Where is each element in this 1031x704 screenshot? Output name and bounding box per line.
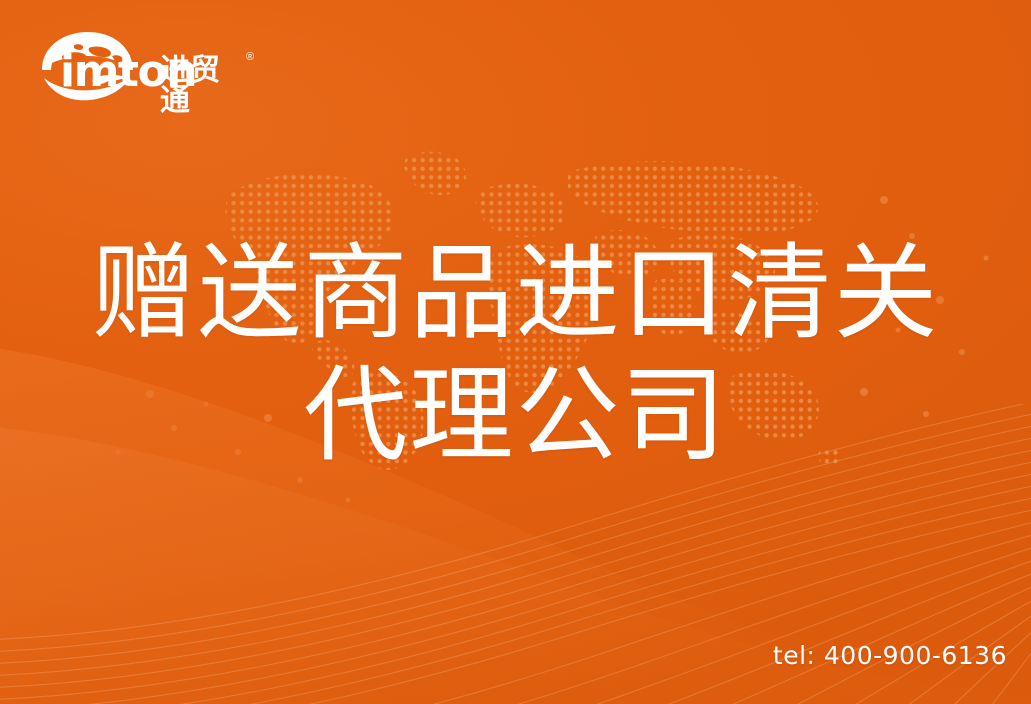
logo-chinese-name: 进贸通 (160, 56, 234, 116)
promo-banner: imton 进贸通 ® 赠送商品进口清关 代理公司 tel: 400-900-6… (0, 0, 1031, 704)
brand-logo[interactable]: imton 进贸通 ® (34, 30, 234, 102)
page-title: 赠送商品进口清关 代理公司 (0, 232, 1031, 476)
registered-trademark-icon: ® (246, 52, 254, 63)
headline-line-1: 赠送商品进口清关 (0, 232, 1031, 354)
headline-line-2: 代理公司 (0, 354, 1031, 476)
contact-telephone[interactable]: tel: 400-900-6136 (773, 643, 1007, 668)
